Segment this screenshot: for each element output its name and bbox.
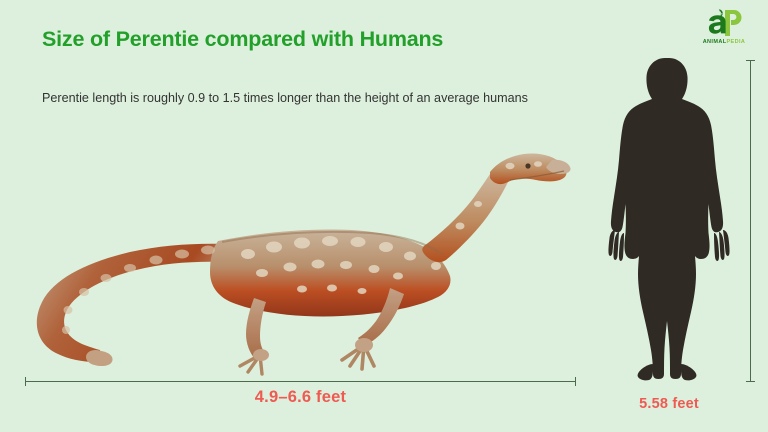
page-title: Size of Perentie compared with Humans — [42, 27, 443, 52]
ap-monogram-icon — [704, 6, 744, 38]
rule-cap-right — [575, 377, 576, 386]
human-silhouette — [608, 56, 730, 381]
logo-wordmark-primary: ANIMAL — [703, 39, 727, 45]
human-measurement-label: 5.58 feet — [608, 396, 730, 412]
logo-wordmark: ANIMALPEDIA — [688, 39, 760, 46]
perentie-measurement-rule — [25, 377, 576, 386]
rule-bar — [25, 381, 576, 382]
page-subtitle: Perentie length is roughly 0.9 to 1.5 ti… — [42, 88, 627, 109]
rule-cap-bottom — [746, 381, 755, 382]
size-comparison-infographic: ANIMALPEDIA Size of Perentie compared wi… — [0, 0, 768, 432]
logo-wordmark-secondary: PEDIA — [726, 39, 745, 45]
rule-bar — [750, 60, 751, 382]
animalpedia-logo: ANIMALPEDIA — [688, 6, 760, 52]
human-measurement-rule — [746, 60, 755, 382]
perentie-lizard-icon — [12, 126, 582, 376]
perentie-lizard-illustration — [12, 126, 582, 376]
human-silhouette-icon — [608, 56, 730, 381]
perentie-measurement-label: 4.9–6.6 feet — [25, 388, 576, 407]
